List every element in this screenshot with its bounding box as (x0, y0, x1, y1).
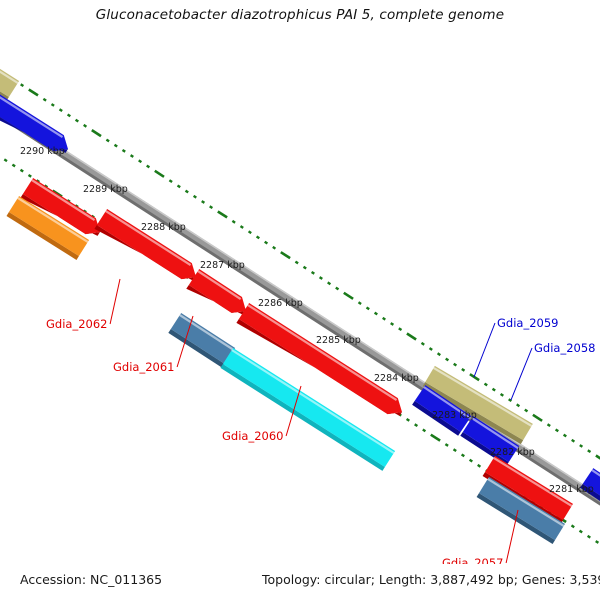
gene-blue-gene-top-left[interactable] (0, 94, 68, 153)
tick-dash (564, 435, 567, 437)
tick-dash (295, 262, 298, 264)
topology-text: Topology: circular; Length: 3,887,492 bp… (262, 572, 600, 587)
tick-dash (383, 318, 386, 320)
tick-dash (123, 150, 126, 152)
tick-dash (588, 536, 591, 538)
tick-dash (462, 369, 465, 371)
tick-dash (169, 180, 172, 182)
tick-dash (29, 175, 32, 177)
status-bar: Accession: NC_011365 Topology: circular;… (0, 566, 600, 600)
tick-dash (249, 231, 252, 233)
tick-dash (470, 460, 473, 462)
tick-dash (312, 272, 315, 274)
tick-dash (533, 415, 542, 421)
gene-label-Gdia_2058[interactable]: Gdia_2058 (534, 341, 595, 355)
tick-dash (375, 313, 378, 315)
gene-red-gene-mid[interactable] (186, 269, 246, 315)
tick-dash (84, 125, 87, 127)
tick-dash (21, 170, 24, 172)
tick-dash (407, 334, 416, 340)
gene-label-Gdia_2062[interactable]: Gdia_2062 (46, 317, 107, 331)
tick-dash (147, 166, 150, 168)
tick-dash (423, 430, 426, 432)
tick-dash (241, 226, 244, 228)
tick-dash (359, 302, 362, 304)
tick-dash (596, 456, 600, 462)
tick-dash (525, 410, 528, 412)
tick-dash (186, 191, 189, 193)
tick-dash (430, 348, 433, 350)
tick-dash (131, 155, 134, 157)
tick-dash (265, 242, 268, 244)
tick-label: 2288 kbp (141, 222, 186, 233)
gene-label-Gdia_2060[interactable]: Gdia_2060 (222, 429, 283, 443)
genome-map-canvas[interactable]: 2290 kbp2289 kbp2288 kbp2287 kbp2286 kbp… (0, 34, 600, 564)
leader-line (511, 348, 532, 400)
tick-dash (210, 206, 213, 208)
leader-line (474, 323, 495, 377)
gene-face[interactable] (97, 209, 196, 279)
tick-label: 2283 kbp (432, 410, 477, 421)
tick-dash (202, 201, 205, 203)
tick-dash (21, 84, 24, 86)
tick-label: 2282 kbp (490, 447, 535, 458)
tick-dash (454, 364, 457, 366)
tick-dash (76, 120, 79, 122)
gene-label-Gdia_2061[interactable]: Gdia_2061 (113, 360, 174, 374)
tick-dash (501, 394, 504, 396)
tick-dash (155, 171, 164, 177)
tick-dash (43, 99, 46, 101)
gene-khaki-fragment-top-left[interactable] (0, 62, 19, 101)
tick-dash (115, 145, 118, 147)
tick-label: 2285 kbp (316, 335, 361, 346)
tick-dash (572, 440, 575, 442)
tick-dash (596, 541, 599, 543)
tick-dash (580, 445, 583, 447)
tick-label: 2287 kbp (200, 260, 245, 271)
tick-label: 2290 kbp (20, 146, 65, 157)
tick-dash (572, 525, 575, 527)
page-title: Gluconacetobacter diazotrophicus PAI 5, … (0, 7, 600, 23)
tick-dash (178, 186, 181, 188)
leader-line (110, 279, 120, 324)
tick-dash (218, 212, 227, 218)
tick-dash (517, 404, 520, 406)
gene-Gdia_2061[interactable] (94, 209, 196, 281)
genome-viewer: Gluconacetobacter diazotrophicus PAI 5, … (0, 0, 600, 600)
accession-text: Accession: NC_011365 (20, 572, 162, 587)
tick-dash (548, 424, 551, 426)
gene-label-Gdia_2057[interactable]: Gdia_2057 (442, 556, 503, 564)
tick-dash (232, 221, 235, 223)
gene-face[interactable] (0, 62, 19, 97)
tick-dash (438, 353, 441, 355)
tick-dash (580, 531, 583, 533)
tick-dash (422, 343, 425, 345)
tick-dash (194, 196, 197, 198)
tick-dash (391, 323, 394, 325)
tick-dash (336, 288, 339, 290)
tick-dash (344, 293, 353, 299)
tick-dash (431, 435, 440, 441)
tick-dash (139, 160, 142, 162)
gene-steel-gene-mid[interactable] (168, 313, 235, 368)
tick-label: 2281 kbp (549, 484, 594, 495)
tick-dash (399, 328, 402, 330)
tick-dash (257, 237, 260, 239)
gene-label-Gdia_2059[interactable]: Gdia_2059 (497, 316, 558, 330)
tick-label: 2286 kbp (258, 298, 303, 309)
tick-dash (304, 267, 307, 269)
tick-label: 2289 kbp (83, 184, 128, 195)
tick-dash (29, 90, 38, 96)
tick-dash (52, 104, 55, 106)
tick-dash (281, 252, 290, 258)
tick-dash (273, 247, 276, 249)
tick-dash (493, 389, 496, 391)
gene-Gdia_2060[interactable] (220, 348, 395, 471)
tick-dash (106, 140, 109, 142)
tick-dash (556, 430, 559, 432)
tick-dash (367, 308, 370, 310)
tick-label: 2284 kbp (374, 373, 419, 384)
tick-dash (328, 282, 331, 284)
tick-dash (445, 444, 448, 446)
tick-dash (4, 159, 7, 161)
gene-face[interactable] (0, 94, 68, 151)
tick-dash (462, 455, 465, 457)
tick-dash (12, 165, 15, 167)
tick-dash (68, 115, 71, 117)
tick-dash (485, 384, 488, 386)
tick-dash (92, 130, 101, 136)
tick-dash (60, 109, 63, 111)
tick-dash (454, 449, 457, 451)
tick-dash (588, 450, 591, 452)
tick-dash (407, 419, 410, 421)
gene-face[interactable] (223, 348, 395, 467)
tick-dash (320, 277, 323, 279)
tick-dash (478, 465, 481, 467)
tick-dash (446, 359, 449, 361)
tick-dash (415, 424, 418, 426)
